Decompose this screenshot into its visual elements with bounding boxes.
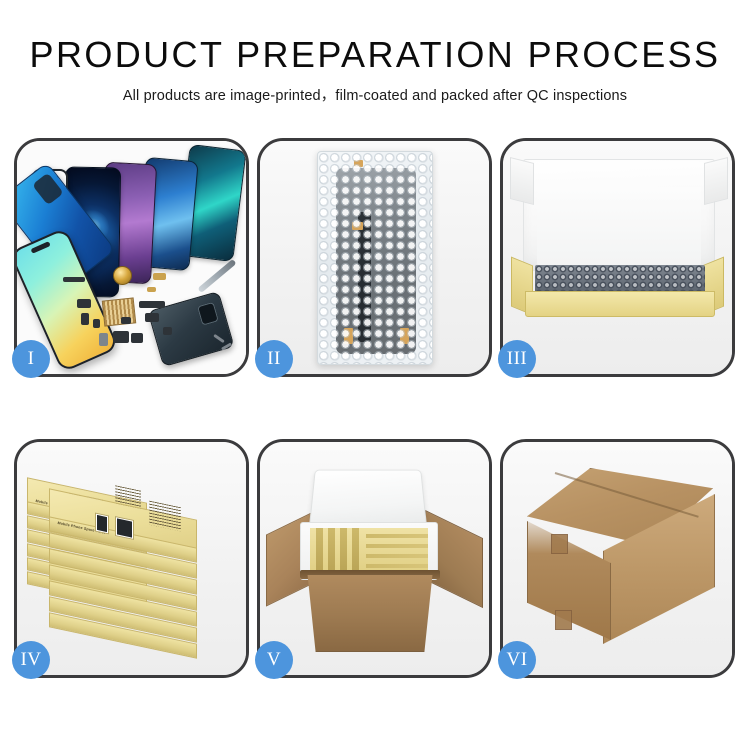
sealed-carton-icon: [503, 442, 732, 675]
process-step-panel-1[interactable]: I: [14, 138, 249, 377]
stacked-boxes-icon: Mobile Phone Spare Parts Mobile Phone Sp…: [17, 442, 246, 675]
process-step-panel-5[interactable]: V: [257, 439, 492, 678]
process-step-panel-6[interactable]: VI: [500, 439, 735, 678]
step-2-image: [260, 141, 489, 374]
step-3-image: [503, 141, 732, 374]
open-inner-box-icon: [503, 141, 732, 374]
process-step-panel-2[interactable]: II: [257, 138, 492, 377]
page-title: PRODUCT PREPARATION PROCESS: [0, 36, 750, 74]
bubble-wrap-icon: [260, 141, 489, 374]
carton-filled-icon: [260, 442, 489, 675]
step-badge-2: II: [255, 340, 293, 378]
process-step-grid: I II: [14, 138, 736, 678]
step-badge-6: VI: [498, 641, 536, 679]
process-step-panel-4[interactable]: Mobile Phone Spare Parts Mobile Phone Sp…: [14, 439, 249, 678]
page-header: PRODUCT PREPARATION PROCESS All products…: [0, 0, 750, 105]
step-6-image: [503, 442, 732, 675]
step-badge-3: III: [498, 340, 536, 378]
phone-parts-icon: [17, 141, 246, 374]
process-step-panel-3[interactable]: III: [500, 138, 735, 377]
step-5-image: [260, 442, 489, 675]
step-1-image: [17, 141, 246, 374]
step-4-image: Mobile Phone Spare Parts Mobile Phone Sp…: [17, 442, 246, 675]
step-badge-1: I: [12, 340, 50, 378]
step-badge-4: IV: [12, 641, 50, 679]
step-badge-5: V: [255, 641, 293, 679]
page-subtitle: All products are image-printed，film-coat…: [0, 84, 750, 105]
